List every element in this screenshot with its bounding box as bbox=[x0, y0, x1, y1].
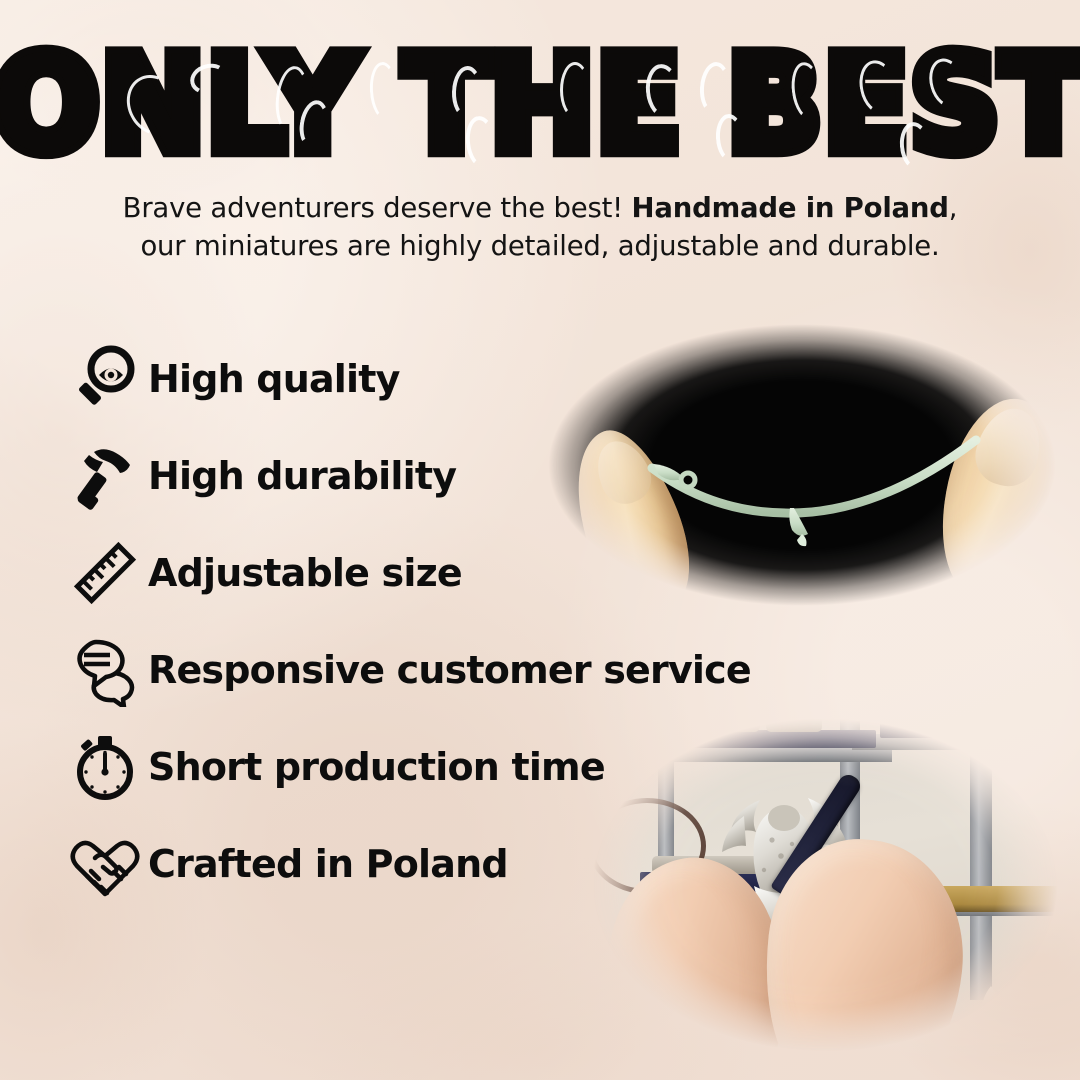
subtitle-line1-prefix: Brave adventurers deserve the best! bbox=[123, 192, 632, 224]
subtitle-line1-suffix: , bbox=[949, 192, 958, 224]
subtitle-line1-bold: Handmade in Poland bbox=[632, 192, 949, 224]
miniature-parts bbox=[994, 708, 1054, 722]
subtitle: Brave adventurers deserve the best! Hand… bbox=[60, 190, 1020, 266]
feature-label: Adjustable size bbox=[148, 551, 462, 595]
feature-item: High quality bbox=[62, 330, 782, 427]
feature-label: Crafted in Poland bbox=[148, 842, 508, 886]
feature-item: Crafted in Poland bbox=[62, 815, 782, 912]
ruler-icon bbox=[62, 533, 148, 613]
miniature-parts bbox=[888, 704, 984, 722]
speech-bubbles-icon bbox=[62, 630, 148, 710]
headline: ONLY THE BEST bbox=[0, 38, 1080, 156]
hammer-icon bbox=[62, 436, 148, 516]
subtitle-line2: our miniatures are highly detailed, adju… bbox=[140, 230, 939, 262]
stopwatch-icon bbox=[62, 727, 148, 807]
headline-text: ONLY THE BEST bbox=[0, 38, 1080, 170]
finished-miniature bbox=[968, 982, 1014, 1042]
feature-list: High quality High durability bbox=[62, 330, 782, 912]
feature-label: High durability bbox=[148, 454, 456, 498]
magnifier-eye-icon bbox=[62, 339, 148, 419]
feature-label: High quality bbox=[148, 357, 400, 401]
feature-item: Responsive customer service bbox=[62, 621, 782, 718]
parts-tray bbox=[880, 720, 1070, 738]
feature-item: High durability bbox=[62, 427, 782, 524]
feature-label: Short production time bbox=[148, 745, 605, 789]
feature-item: Adjustable size bbox=[62, 524, 782, 621]
feature-item: Short production time bbox=[62, 718, 782, 815]
heart-handshake-icon bbox=[62, 824, 148, 904]
feature-label: Responsive customer service bbox=[148, 648, 751, 692]
